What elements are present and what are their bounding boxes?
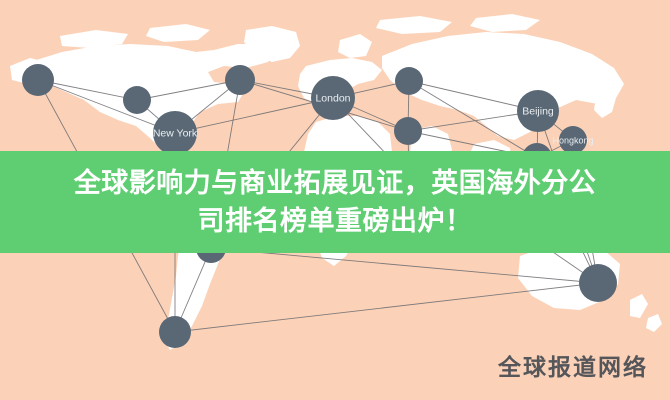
map-node-sydney[interactable]	[579, 264, 617, 302]
node-circle[interactable]	[22, 64, 54, 96]
node-circle[interactable]	[395, 67, 423, 95]
map-node-calgary[interactable]	[123, 86, 151, 114]
node-label: Beijing	[522, 106, 554, 118]
node-label: New York	[153, 128, 198, 140]
map-node-moscow[interactable]	[395, 67, 423, 95]
node-circle[interactable]	[123, 86, 151, 114]
map-node-greenland[interactable]	[225, 65, 255, 95]
node-label: Hongkong	[552, 136, 593, 146]
watermark-brand: 全球报道网络	[498, 348, 648, 382]
map-node-london[interactable]: London	[311, 76, 355, 120]
node-circle[interactable]	[579, 264, 617, 302]
node-circle[interactable]	[159, 316, 191, 348]
headline-banner: 全球影响力与商业拓展见证，英国海外分公 司排名榜单重磅出炉！	[0, 151, 670, 253]
map-node-hongkong[interactable]: Hongkong	[552, 126, 593, 154]
node-label: London	[315, 93, 350, 105]
map-node-beijing[interactable]: Beijing	[517, 90, 559, 132]
map-node-middleeast[interactable]	[394, 117, 422, 145]
headline-line-2: 司排名榜单重磅出炉！	[198, 202, 473, 240]
headline-line-1: 全球影响力与商业拓展见证，英国海外分公	[74, 164, 597, 202]
node-circle[interactable]	[225, 65, 255, 95]
node-circle[interactable]	[394, 117, 422, 145]
poster-root: New YorkLondonBeijingHongkong 全球影响力与商业拓展…	[0, 0, 670, 400]
map-node-buenosaires[interactable]	[159, 316, 191, 348]
map-link	[175, 283, 598, 332]
map-node-alaska[interactable]	[22, 64, 54, 96]
